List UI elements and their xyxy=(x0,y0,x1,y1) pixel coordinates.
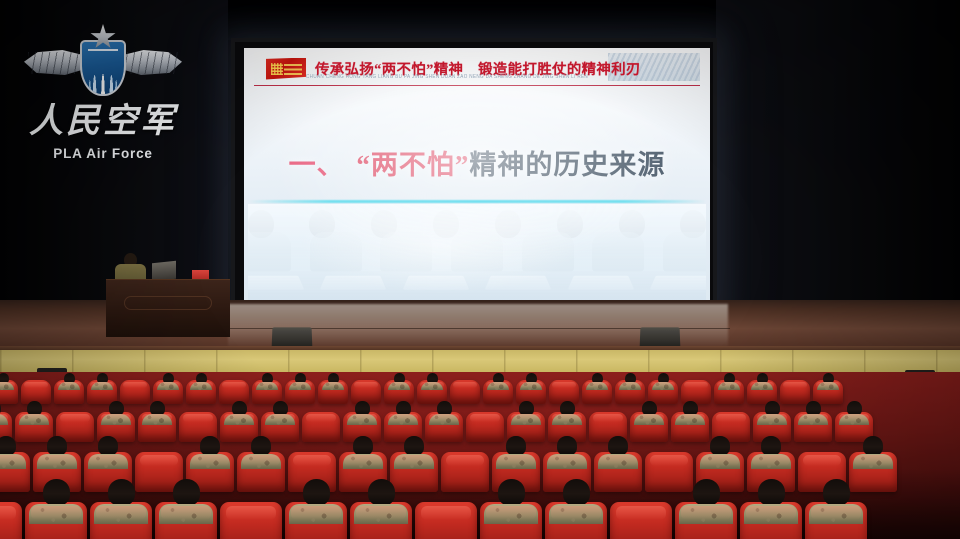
audience-member-head xyxy=(303,479,330,506)
audience-member-head xyxy=(724,373,735,384)
audience-member-head xyxy=(437,401,452,416)
audience-member-head xyxy=(404,436,424,456)
pla-air-force-watermark: 人民空军 PLA Air Force xyxy=(18,24,188,164)
audience-member xyxy=(29,479,83,524)
watermark-english-name: PLA Air Force xyxy=(18,146,188,161)
audience-member-uniform xyxy=(142,414,172,425)
heading-number: 一、 xyxy=(289,150,345,180)
audience-seat xyxy=(714,380,744,404)
audience-member xyxy=(224,401,254,425)
audience-member-uniform xyxy=(343,454,383,469)
audience-member-head xyxy=(27,401,42,416)
audience-member xyxy=(520,373,542,390)
audience-member-uniform xyxy=(190,382,212,390)
audience-member-head xyxy=(196,373,207,384)
audience-member xyxy=(839,401,869,425)
audience-member xyxy=(429,401,459,425)
audience-member xyxy=(484,479,538,524)
audience-member-head xyxy=(355,401,370,416)
audience-member-uniform xyxy=(675,414,705,425)
audience-member xyxy=(88,436,128,469)
slide-banner: 传承弘扬“两不怕”精神 锻造能打胜仗的精神利刃 xyxy=(254,52,700,86)
audience-member xyxy=(322,373,344,390)
audience-member-head xyxy=(232,401,247,416)
audience-seat xyxy=(441,452,489,492)
audience-member-uniform xyxy=(322,382,344,390)
audience-member-uniform xyxy=(744,504,798,524)
audience-member-uniform xyxy=(190,454,230,469)
audience-member-head xyxy=(295,373,306,384)
audience-member xyxy=(675,401,705,425)
audience-member-uniform xyxy=(388,414,418,425)
audience-member-head xyxy=(251,436,271,456)
audience-member xyxy=(817,373,839,390)
audience-member-uniform xyxy=(598,454,638,469)
audience-member xyxy=(190,436,230,469)
audience-member xyxy=(289,373,311,390)
slide-divider xyxy=(248,200,706,203)
audience-member-uniform xyxy=(88,454,128,469)
audience-seat xyxy=(794,412,832,442)
audience-member-uniform xyxy=(619,382,641,390)
heading-quote-close: ” xyxy=(455,150,470,180)
audience-member-uniform xyxy=(549,504,603,524)
audience-member-uniform xyxy=(652,382,674,390)
audience-member xyxy=(751,436,791,469)
audience-member xyxy=(421,373,443,390)
audience-member-uniform xyxy=(552,414,582,425)
pla-air-force-emblem-icon xyxy=(18,24,188,102)
audience-member-head xyxy=(625,373,636,384)
red-flag-icon xyxy=(266,58,306,80)
audience-member-uniform xyxy=(0,454,26,469)
audience-seat xyxy=(0,502,22,539)
audience-member xyxy=(388,401,418,425)
audience-member xyxy=(652,373,674,390)
audience-member-head xyxy=(863,436,883,456)
audience-seating xyxy=(0,372,960,539)
audience-member xyxy=(598,436,638,469)
audience-member-uniform xyxy=(798,414,828,425)
audience-member-head xyxy=(108,479,135,506)
audience-member-head xyxy=(519,401,534,416)
projection-screen: 传承弘扬“两不怕”精神 锻造能打胜仗的精神利刃 CHUAN CHENG HONG… xyxy=(244,48,710,307)
audience-seat xyxy=(155,502,217,539)
audience-member xyxy=(394,436,434,469)
audience-member-uniform xyxy=(37,454,77,469)
audience-seat xyxy=(220,502,282,539)
audience-member xyxy=(853,436,893,469)
audience-member-head xyxy=(98,436,118,456)
audience-seat xyxy=(740,502,802,539)
audience-member-uniform xyxy=(347,414,377,425)
slide-background-photo xyxy=(248,204,706,305)
audience-member-head xyxy=(353,436,373,456)
audience-seat xyxy=(545,502,607,539)
auditorium-scene: 人民空军 PLA Air Force xyxy=(0,0,960,539)
watermark-chinese-name: 人民空军 xyxy=(18,104,188,140)
audience-member xyxy=(241,436,281,469)
audience-member xyxy=(586,373,608,390)
audience-member xyxy=(354,479,408,524)
audience-member-uniform xyxy=(751,382,773,390)
audience-member xyxy=(142,401,172,425)
audience-member xyxy=(549,479,603,524)
audience-member-head xyxy=(765,401,780,416)
audience-member xyxy=(798,401,828,425)
audience-member-uniform xyxy=(484,504,538,524)
audience-seat xyxy=(318,380,348,404)
audience-member-uniform xyxy=(394,454,434,469)
audience-member-uniform xyxy=(289,382,311,390)
audience-member xyxy=(0,401,8,425)
audience-member-head xyxy=(163,373,174,384)
audience-member-head xyxy=(563,479,590,506)
audience-member xyxy=(91,373,113,390)
audience-member-head xyxy=(493,373,504,384)
audience-member-uniform xyxy=(718,382,740,390)
projection-screen-frame: 传承弘扬“两不怕”精神 锻造能打胜仗的精神利刃 CHUAN CHENG HONG… xyxy=(231,38,717,315)
right-wall xyxy=(716,0,960,312)
slide-heading: 一、 “两不怕”精神的历史来源 xyxy=(244,143,710,182)
audience-member-uniform xyxy=(91,382,113,390)
shield-icon xyxy=(80,40,126,96)
audience-member-head xyxy=(64,373,75,384)
audience-seat xyxy=(483,380,513,404)
audience-member-uniform xyxy=(634,414,664,425)
audience-member xyxy=(751,373,773,390)
audience-seat xyxy=(237,452,285,492)
audience-member-uniform xyxy=(586,382,608,390)
audience-member-head xyxy=(761,436,781,456)
banner-pinyin: CHUAN CHENG HONG YANG LIANG BU PA JING S… xyxy=(306,74,614,80)
audience-member-uniform xyxy=(354,504,408,524)
audience-member xyxy=(19,401,49,425)
audience-member xyxy=(679,479,733,524)
audience-member-uniform xyxy=(256,382,278,390)
audience-member-head xyxy=(109,401,124,416)
audience-member xyxy=(496,436,536,469)
audience-member xyxy=(157,373,179,390)
audience-seat xyxy=(675,502,737,539)
wing-right-feathers xyxy=(120,52,178,74)
audience-member-head xyxy=(557,436,577,456)
audience-member-uniform xyxy=(679,504,733,524)
audience-member-uniform xyxy=(496,454,536,469)
audience-member xyxy=(552,401,582,425)
audience-member-head xyxy=(683,401,698,416)
audience-seat xyxy=(582,380,612,404)
audience-member xyxy=(619,373,641,390)
audience-member xyxy=(700,436,740,469)
heading-body: “两不怕”精神的历史来源 xyxy=(356,150,665,180)
audience-member xyxy=(511,401,541,425)
audience-seat xyxy=(805,502,867,539)
audience-member-uniform xyxy=(0,414,8,425)
audience-member xyxy=(718,373,740,390)
audience-member xyxy=(190,373,212,390)
audience-member-uniform xyxy=(839,414,869,425)
audience-member xyxy=(94,479,148,524)
audience-member xyxy=(744,479,798,524)
audience-member xyxy=(0,373,14,390)
audience-member-head xyxy=(560,401,575,416)
audience-member-head xyxy=(47,436,67,456)
audience-member-head xyxy=(592,373,603,384)
audience-member xyxy=(256,373,278,390)
audience-member xyxy=(101,401,131,425)
audience-member-head xyxy=(200,436,220,456)
audience-member xyxy=(487,373,509,390)
audience-member-head xyxy=(806,401,821,416)
audience-seat xyxy=(350,502,412,539)
audience-member xyxy=(634,401,664,425)
audience-member-head xyxy=(396,401,411,416)
audience-member xyxy=(757,401,787,425)
audience-member xyxy=(37,436,77,469)
audience-member-uniform xyxy=(547,454,587,469)
audience-member-uniform xyxy=(0,382,14,390)
audience-member-head xyxy=(710,436,730,456)
audience-member-head xyxy=(823,479,850,506)
audience-member-uniform xyxy=(94,504,148,524)
audience-member-uniform xyxy=(58,382,80,390)
audience-member-uniform xyxy=(751,454,791,469)
audience-member-head xyxy=(758,479,785,506)
audience-member-uniform xyxy=(159,504,213,524)
audience-seat xyxy=(610,502,672,539)
audience-member-head xyxy=(693,479,720,506)
audience-row xyxy=(0,502,960,539)
audience-member xyxy=(547,436,587,469)
audience-member-head xyxy=(150,401,165,416)
audience-member-uniform xyxy=(853,454,893,469)
audience-seat xyxy=(186,380,216,404)
audience-seat xyxy=(138,412,176,442)
audience-member-head xyxy=(0,373,9,384)
audience-seat xyxy=(285,502,347,539)
audience-member-uniform xyxy=(429,414,459,425)
audience-member-uniform xyxy=(289,504,343,524)
audience-member-uniform xyxy=(241,454,281,469)
audience-member-head xyxy=(498,479,525,506)
audience-member-uniform xyxy=(487,382,509,390)
audience-member-head xyxy=(394,373,405,384)
audience-member-uniform xyxy=(421,382,443,390)
heading-rest: 精神的历史来源 xyxy=(469,150,665,180)
audience-member-head xyxy=(0,401,1,416)
audience-member-head xyxy=(847,401,862,416)
audience-member-uniform xyxy=(388,382,410,390)
audience-member-uniform xyxy=(817,382,839,390)
audience-member-head xyxy=(757,373,768,384)
podium-carving xyxy=(124,296,212,310)
audience-member-uniform xyxy=(19,414,49,425)
audience-member-uniform xyxy=(224,414,254,425)
audience-member xyxy=(289,479,343,524)
audience-member-head xyxy=(526,373,537,384)
audience-seat xyxy=(480,502,542,539)
audience-member-uniform xyxy=(511,414,541,425)
audience-member-uniform xyxy=(757,414,787,425)
audience-member-uniform xyxy=(29,504,83,524)
audience-member-uniform xyxy=(520,382,542,390)
audience-member-head xyxy=(608,436,628,456)
wing-left-feathers xyxy=(28,52,86,74)
audience-seat xyxy=(90,502,152,539)
audience-member-head xyxy=(173,479,200,506)
audience-member-uniform xyxy=(809,504,863,524)
audience-member xyxy=(265,401,295,425)
audience-member-uniform xyxy=(265,414,295,425)
audience-seat xyxy=(0,452,30,492)
audience-member-head xyxy=(368,479,395,506)
audience-member xyxy=(0,436,26,469)
heading-quote-text: 两不怕 xyxy=(371,150,455,180)
audience-member-head xyxy=(658,373,669,384)
audience-member-head xyxy=(97,373,108,384)
audience-seat xyxy=(415,502,477,539)
audience-member-uniform xyxy=(700,454,740,469)
audience-member-head xyxy=(0,436,16,456)
heading-quote-open: “ xyxy=(356,150,371,180)
audience-member-head xyxy=(273,401,288,416)
audience-member-uniform xyxy=(157,382,179,390)
audience-seat xyxy=(54,380,84,404)
audience-member-head xyxy=(642,401,657,416)
audience-row xyxy=(0,412,960,442)
audience-seat xyxy=(25,502,87,539)
audience-member xyxy=(343,436,383,469)
audience-member-uniform xyxy=(101,414,131,425)
audience-member xyxy=(347,401,377,425)
audience-seat xyxy=(302,412,340,442)
audience-member-head xyxy=(43,479,70,506)
audience-member-head xyxy=(506,436,526,456)
audience-member-head xyxy=(427,373,438,384)
audience-member-head xyxy=(328,373,339,384)
audience-member xyxy=(809,479,863,524)
audience-member xyxy=(388,373,410,390)
audience-member-head xyxy=(823,373,834,384)
audience-member xyxy=(58,373,80,390)
audience-member xyxy=(159,479,213,524)
audience-member-head xyxy=(262,373,273,384)
